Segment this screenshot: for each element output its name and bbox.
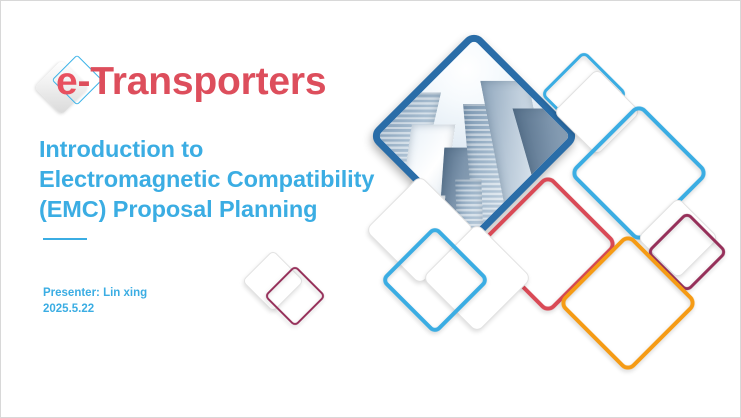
title-divider	[43, 238, 87, 240]
title-block: e-Transporters Introduction to Electroma…	[39, 57, 439, 317]
presenter-info: Presenter: Lin xing 2025.5.22	[43, 286, 439, 317]
brand-logo-e: e	[56, 60, 78, 103]
brand-logo-hyphen: -	[78, 60, 91, 103]
brand-logo-text: e-Transporters	[56, 57, 326, 107]
brand-logo-word: Transporters	[90, 60, 326, 103]
presentation-slide: e-Transporters Introduction to Electroma…	[0, 0, 741, 418]
brand-logo: e-Transporters	[39, 57, 439, 109]
page-title: Introduction to Electromagnetic Compatib…	[39, 134, 439, 224]
